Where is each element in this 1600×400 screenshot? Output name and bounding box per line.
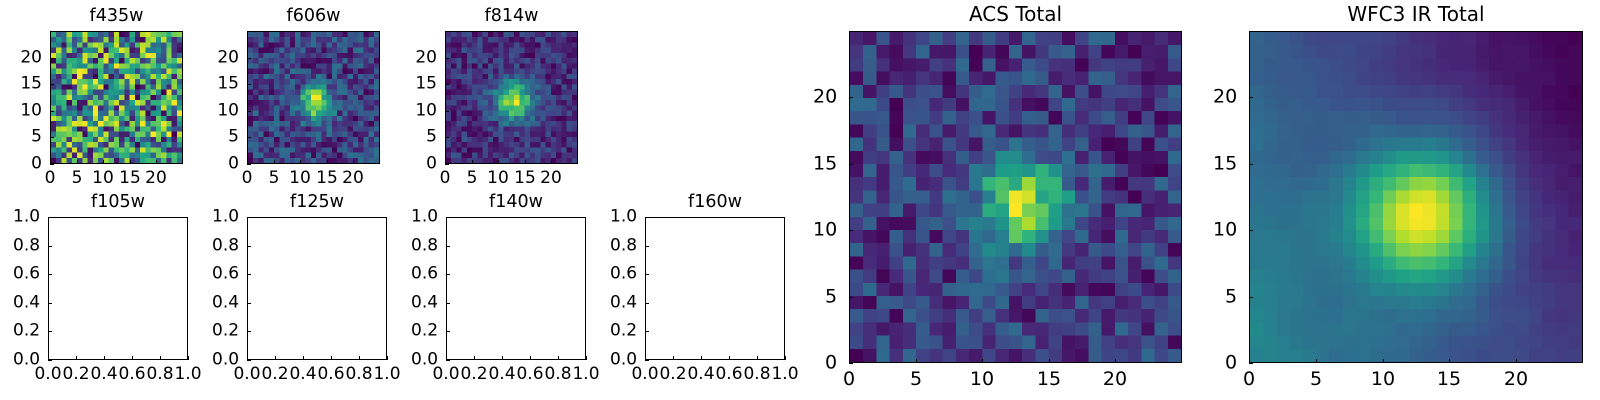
y-tick — [247, 331, 251, 332]
x-tick-label: 0.0 — [432, 366, 459, 383]
x-tick-label: 0.4 — [289, 366, 316, 383]
y-tick — [849, 97, 853, 98]
x-tick-label: 0.4 — [488, 366, 515, 383]
y-tick — [247, 246, 251, 247]
x-tick-label: 5 — [1310, 371, 1322, 388]
y-tick — [48, 331, 52, 332]
x-tick — [673, 356, 674, 360]
x-tick — [300, 160, 301, 164]
x-tick-label: 0 — [843, 371, 855, 388]
y-tick — [445, 137, 449, 138]
y-tick-label: 0.0 — [13, 352, 40, 369]
x-tick — [1115, 359, 1116, 363]
x-tick — [530, 356, 531, 360]
x-tick-label: 0.6 — [715, 366, 742, 383]
y-tick — [247, 58, 251, 59]
x-tick — [303, 356, 304, 360]
y-tick — [247, 360, 251, 361]
heatmap-image — [850, 32, 1181, 362]
x-tick — [331, 356, 332, 360]
y-tick-label: 0.0 — [411, 352, 438, 369]
y-tick — [48, 246, 52, 247]
panel-wfc3-ir-total: WFC3 IR Total0510152005101520 — [0, 0, 1600, 400]
x-tick-label: 20 — [342, 170, 364, 187]
y-tick-label: 1.0 — [411, 209, 438, 226]
y-tick-label: 5 — [1225, 289, 1237, 306]
y-tick — [445, 84, 449, 85]
x-tick — [472, 160, 473, 164]
panel-title: f105w — [48, 193, 188, 211]
x-tick-label: 0.4 — [90, 366, 117, 383]
x-tick-label: 0.6 — [317, 366, 344, 383]
y-tick-label: 0.0 — [212, 352, 239, 369]
y-tick-label: 0.8 — [411, 238, 438, 255]
x-tick-label: 0.4 — [687, 366, 714, 383]
image-axes — [247, 31, 380, 164]
x-tick — [77, 160, 78, 164]
y-tick-label: 20 — [813, 89, 837, 106]
x-tick-label: 1.0 — [174, 366, 201, 383]
y-tick-label: 0.8 — [610, 238, 637, 255]
x-tick — [982, 359, 983, 363]
y-tick-label: 0.0 — [610, 352, 637, 369]
x-tick — [327, 160, 328, 164]
x-tick-label: 0.8 — [345, 366, 372, 383]
x-tick-label: 15 — [119, 170, 141, 187]
x-tick — [586, 356, 587, 360]
x-tick-label: 10 — [1371, 371, 1395, 388]
x-tick-label: 15 — [316, 170, 338, 187]
x-tick-label: 0.8 — [743, 366, 770, 383]
image-axes — [445, 31, 578, 164]
y-tick-label: 10 — [813, 222, 837, 239]
y-tick — [645, 246, 649, 247]
panel-f125w: f125w0.00.20.40.60.81.00.00.20.40.60.81.… — [0, 0, 1600, 400]
x-tick — [551, 160, 552, 164]
x-tick — [701, 356, 702, 360]
x-tick-label: 0.0 — [233, 366, 260, 383]
y-tick — [247, 164, 251, 165]
y-tick — [849, 230, 853, 231]
y-tick — [1249, 363, 1253, 364]
y-tick-label: 0.6 — [411, 266, 438, 283]
x-tick — [188, 356, 189, 360]
x-tick-label: 10 — [92, 170, 114, 187]
y-tick — [645, 331, 649, 332]
y-tick — [445, 111, 449, 112]
y-tick-label: 15 — [20, 76, 42, 93]
x-tick — [247, 160, 248, 164]
x-tick-label: 5 — [72, 170, 83, 187]
y-tick-label: 0.2 — [212, 323, 239, 340]
heatmap-image — [51, 32, 182, 163]
x-tick — [1249, 359, 1250, 363]
y-tick-label: 0.4 — [212, 295, 239, 312]
x-tick-label: 15 — [1437, 371, 1461, 388]
y-tick — [446, 360, 450, 361]
x-tick — [502, 356, 503, 360]
panel-title: WFC3 IR Total — [1249, 5, 1583, 23]
y-tick — [247, 303, 251, 304]
y-tick-label: 0.6 — [212, 266, 239, 283]
y-tick — [50, 164, 54, 165]
x-tick-label: 0.2 — [659, 366, 686, 383]
y-tick — [247, 84, 251, 85]
y-tick — [446, 217, 450, 218]
x-tick — [785, 356, 786, 360]
y-tick — [849, 297, 853, 298]
y-tick-label: 10 — [217, 103, 239, 120]
y-tick-label: 15 — [1213, 156, 1237, 173]
x-tick-label: 15 — [1037, 371, 1061, 388]
y-tick-label: 0 — [426, 156, 437, 173]
x-tick-label: 5 — [910, 371, 922, 388]
y-tick-label: 0.2 — [610, 323, 637, 340]
x-tick-label: 0.0 — [34, 366, 61, 383]
y-tick — [50, 111, 54, 112]
empty-axes — [247, 217, 387, 360]
y-tick — [247, 111, 251, 112]
y-tick-label: 5 — [426, 129, 437, 146]
y-tick — [247, 274, 251, 275]
x-tick — [132, 356, 133, 360]
x-tick — [916, 359, 917, 363]
y-tick — [849, 164, 853, 165]
x-tick-label: 10 — [487, 170, 509, 187]
y-tick-label: 0 — [825, 355, 837, 372]
image-axes — [1249, 31, 1583, 363]
x-tick-label: 0.8 — [544, 366, 571, 383]
heatmap-image — [1250, 32, 1582, 362]
y-tick — [445, 58, 449, 59]
y-tick — [849, 363, 853, 364]
y-tick-label: 20 — [217, 50, 239, 67]
x-tick — [474, 356, 475, 360]
y-tick — [445, 164, 449, 165]
y-tick — [247, 137, 251, 138]
x-tick-label: 0.8 — [146, 366, 173, 383]
x-tick — [757, 356, 758, 360]
y-tick-label: 0.6 — [610, 266, 637, 283]
panel-title: ACS Total — [849, 5, 1182, 23]
y-tick-label: 10 — [415, 103, 437, 120]
y-tick — [645, 217, 649, 218]
x-tick — [48, 356, 49, 360]
y-tick-label: 5 — [31, 129, 42, 146]
x-tick-label: 0 — [242, 170, 253, 187]
y-tick-label: 0.4 — [610, 295, 637, 312]
y-tick-label: 5 — [228, 129, 239, 146]
y-tick-label: 1.0 — [13, 209, 40, 226]
y-tick-label: 10 — [1213, 222, 1237, 239]
x-tick — [849, 359, 850, 363]
y-tick — [1249, 230, 1253, 231]
empty-axes — [645, 217, 785, 360]
empty-axes — [446, 217, 586, 360]
y-tick — [446, 303, 450, 304]
x-tick-label: 0.6 — [516, 366, 543, 383]
x-tick-label: 20 — [145, 170, 167, 187]
x-tick-label: 20 — [540, 170, 562, 187]
y-tick-label: 10 — [20, 103, 42, 120]
x-tick-label: 5 — [467, 170, 478, 187]
y-tick — [48, 274, 52, 275]
y-tick — [50, 137, 54, 138]
x-tick — [1516, 359, 1517, 363]
y-tick-label: 1.0 — [610, 209, 637, 226]
y-tick-label: 20 — [20, 50, 42, 67]
x-tick — [353, 160, 354, 164]
y-tick-label: 5 — [825, 289, 837, 306]
x-tick-label: 0.6 — [118, 366, 145, 383]
y-tick — [446, 246, 450, 247]
x-tick — [729, 356, 730, 360]
x-tick — [103, 160, 104, 164]
x-tick — [1316, 359, 1317, 363]
x-tick — [446, 356, 447, 360]
y-tick-label: 20 — [415, 50, 437, 67]
panel-f606w: f606w0510152005101520 — [0, 0, 1600, 400]
x-tick-label: 0 — [1243, 371, 1255, 388]
panel-title: f814w — [445, 7, 578, 25]
x-tick — [160, 356, 161, 360]
x-tick-label: 5 — [269, 170, 280, 187]
y-tick — [645, 274, 649, 275]
y-tick-label: 1.0 — [212, 209, 239, 226]
x-tick-label: 10 — [289, 170, 311, 187]
x-tick — [445, 160, 446, 164]
x-tick — [156, 160, 157, 164]
y-tick-label: 0.4 — [13, 295, 40, 312]
x-tick-label: 1.0 — [572, 366, 599, 383]
x-tick-label: 15 — [514, 170, 536, 187]
x-tick — [359, 356, 360, 360]
x-tick-label: 0.2 — [261, 366, 288, 383]
panel-f435w: f435w0510152005101520 — [0, 0, 1600, 400]
x-tick — [76, 356, 77, 360]
y-tick — [50, 58, 54, 59]
y-tick — [446, 274, 450, 275]
heatmap-image — [248, 32, 379, 163]
panel-title: f435w — [50, 7, 183, 25]
x-tick — [247, 356, 248, 360]
x-tick — [130, 160, 131, 164]
panel-title: f140w — [446, 193, 586, 211]
y-tick-label: 15 — [813, 156, 837, 173]
y-tick-label: 0.6 — [13, 266, 40, 283]
y-tick-label: 0 — [228, 156, 239, 173]
x-tick — [525, 160, 526, 164]
y-tick — [1249, 164, 1253, 165]
panel-f160w: f160w0.00.20.40.60.81.00.00.20.40.60.81.… — [0, 0, 1600, 400]
x-tick-label: 20 — [1103, 371, 1127, 388]
panel-f140w: f140w0.00.20.40.60.81.00.00.20.40.60.81.… — [0, 0, 1600, 400]
y-tick — [1249, 97, 1253, 98]
figure-canvas: f435w0510152005101520f606w05101520051015… — [0, 0, 1600, 400]
empty-axes — [48, 217, 188, 360]
y-tick — [247, 217, 251, 218]
x-tick-label: 1.0 — [373, 366, 400, 383]
x-tick — [1449, 359, 1450, 363]
x-tick — [275, 356, 276, 360]
panel-title: f125w — [247, 193, 387, 211]
panel-title: f606w — [247, 7, 380, 25]
y-tick — [48, 217, 52, 218]
y-tick — [1249, 297, 1253, 298]
x-tick-label: 0.2 — [62, 366, 89, 383]
image-axes — [849, 31, 1182, 363]
x-tick — [558, 356, 559, 360]
x-tick — [274, 160, 275, 164]
x-tick — [645, 356, 646, 360]
y-tick — [48, 303, 52, 304]
y-tick-label: 0.2 — [411, 323, 438, 340]
y-tick-label: 0.8 — [13, 238, 40, 255]
y-tick-label: 0 — [1225, 355, 1237, 372]
x-tick — [387, 356, 388, 360]
y-tick-label: 15 — [217, 76, 239, 93]
y-tick — [645, 360, 649, 361]
panel-title: f160w — [645, 193, 785, 211]
x-tick-label: 0 — [440, 170, 451, 187]
y-tick — [50, 84, 54, 85]
x-tick — [1383, 359, 1384, 363]
panel-f105w: f105w0.00.20.40.60.81.00.00.20.40.60.81.… — [0, 0, 1600, 400]
image-axes — [50, 31, 183, 164]
x-tick — [104, 356, 105, 360]
y-tick-label: 15 — [415, 76, 437, 93]
x-tick-label: 0.0 — [631, 366, 658, 383]
y-tick — [446, 331, 450, 332]
x-tick-label: 10 — [970, 371, 994, 388]
y-tick — [48, 360, 52, 361]
x-tick-label: 0 — [45, 170, 56, 187]
y-tick-label: 0.4 — [411, 295, 438, 312]
y-tick-label: 0 — [31, 156, 42, 173]
x-tick-label: 20 — [1504, 371, 1528, 388]
x-tick-label: 1.0 — [771, 366, 798, 383]
heatmap-image — [446, 32, 577, 163]
y-tick-label: 0.2 — [13, 323, 40, 340]
y-tick — [645, 303, 649, 304]
x-tick-label: 0.2 — [460, 366, 487, 383]
x-tick — [498, 160, 499, 164]
panel-f814w: f814w0510152005101520 — [0, 0, 1600, 400]
x-tick — [50, 160, 51, 164]
y-tick-label: 0.8 — [212, 238, 239, 255]
y-tick-label: 20 — [1213, 89, 1237, 106]
x-tick — [1049, 359, 1050, 363]
panel-acs-total: ACS Total0510152005101520 — [0, 0, 1600, 400]
